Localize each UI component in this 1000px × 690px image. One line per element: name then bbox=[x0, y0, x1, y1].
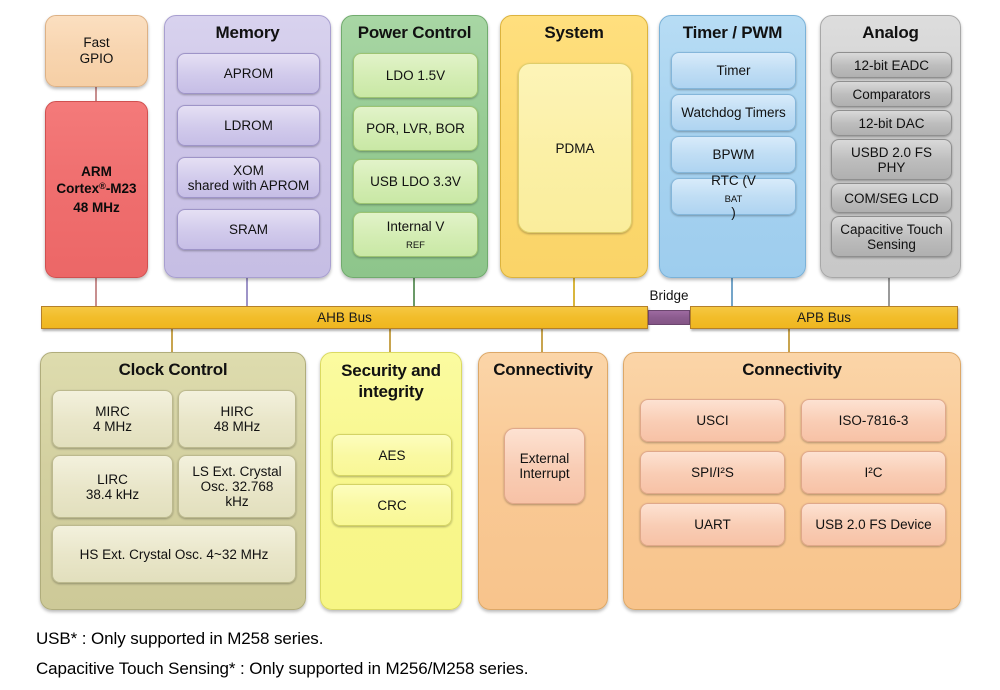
block-capacitive-touch-sensing[interactable]: Capacitive Touch Sensing bbox=[831, 216, 952, 257]
block-watchdog-timers-label: Watchdog Timers bbox=[678, 105, 789, 120]
footnote-capacitive-touch: Capacitive Touch Sensing* : Only support… bbox=[36, 659, 528, 679]
block-ls-ext-line1: LS Ext. Crystal bbox=[189, 464, 284, 479]
footnote-usb: USB* : Only supported in M258 series. bbox=[36, 629, 323, 649]
arm-line3: 48 MHz bbox=[56, 199, 136, 216]
block-xom-label: XOM shared with APROM bbox=[182, 163, 316, 193]
block-i2c-label: I²C bbox=[862, 465, 886, 480]
arm-m23-text: -M23 bbox=[106, 181, 137, 196]
block-por-lvr-bor-label: POR, LVR, BOR bbox=[363, 121, 468, 136]
block-uart[interactable]: UART bbox=[640, 503, 785, 546]
block-ls-ext-line3: kHz bbox=[189, 494, 284, 509]
block-cap-touch-line2: Sensing bbox=[837, 237, 946, 252]
block-eadc[interactable]: 12-bit EADC bbox=[831, 52, 952, 78]
block-hirc-line1: HIRC bbox=[211, 404, 264, 419]
block-spi-i2s[interactable]: SPI/I²S bbox=[640, 451, 785, 494]
panel-memory: Memory APROM LDROM XOM shared with APROM… bbox=[164, 15, 331, 278]
block-internal-vref-label: Internal VREF bbox=[381, 219, 451, 251]
bridge-connector bbox=[648, 310, 690, 325]
block-lirc-line2: 38.4 kHz bbox=[83, 487, 142, 502]
registered-mark-icon: ® bbox=[99, 181, 106, 191]
apb-bus-label: APB Bus bbox=[797, 310, 851, 325]
block-dac[interactable]: 12-bit DAC bbox=[831, 110, 952, 136]
panel-connectivity-left: Connectivity External Interrupt bbox=[478, 352, 608, 610]
block-aprom[interactable]: APROM bbox=[177, 53, 320, 94]
block-bpwm[interactable]: BPWM bbox=[671, 136, 796, 173]
rtc-text: RTC (V bbox=[708, 173, 759, 188]
fast-gpio-line2: GPIO bbox=[80, 51, 114, 67]
block-hirc[interactable]: HIRC 48 MHz bbox=[178, 390, 296, 448]
block-com-seg-lcd-label: COM/SEG LCD bbox=[841, 191, 942, 206]
block-spi-i2s-label: SPI/I²S bbox=[688, 465, 737, 480]
rtc-close-paren: ) bbox=[708, 205, 759, 220]
block-external-interrupt[interactable]: External Interrupt bbox=[504, 428, 585, 504]
block-lirc-line1: LIRC bbox=[83, 472, 142, 487]
panel-system-title: System bbox=[501, 23, 647, 42]
vbat-subscript: BAT bbox=[725, 194, 743, 205]
block-crc[interactable]: CRC bbox=[332, 484, 452, 526]
panel-analog: Analog 12-bit EADC Comparators 12-bit DA… bbox=[820, 15, 961, 278]
panel-security-integrity: Security and integrity AES CRC bbox=[320, 352, 462, 610]
connector-ahb-to-clock bbox=[171, 327, 173, 352]
panel-connectivity-right-title: Connectivity bbox=[624, 360, 960, 379]
connector-gpio-to-cpu bbox=[95, 86, 97, 102]
block-xom-line2: shared with APROM bbox=[185, 178, 313, 193]
block-fast-gpio[interactable]: Fast GPIO bbox=[45, 15, 148, 87]
connector-timer-to-apb bbox=[731, 276, 733, 308]
ahb-bus[interactable]: AHB Bus bbox=[41, 306, 648, 329]
block-crc-label: CRC bbox=[374, 498, 409, 513]
block-eadc-label: 12-bit EADC bbox=[851, 58, 932, 73]
internal-v-text: Internal V bbox=[384, 219, 448, 234]
block-iso-7816-3-label: ISO-7816-3 bbox=[836, 413, 912, 428]
block-usci-label: USCI bbox=[693, 413, 731, 428]
block-mirc-line2: 4 MHz bbox=[90, 419, 135, 434]
block-watchdog-timers[interactable]: Watchdog Timers bbox=[671, 94, 796, 131]
connector-memory-to-ahb bbox=[246, 276, 248, 308]
block-pdma-label: PDMA bbox=[552, 141, 597, 156]
panel-connectivity-right: Connectivity USCI ISO-7816-3 SPI/I²S I²C… bbox=[623, 352, 961, 610]
block-ldrom-label: LDROM bbox=[221, 118, 276, 133]
block-usci[interactable]: USCI bbox=[640, 399, 785, 442]
block-ext-int-line2: Interrupt bbox=[516, 466, 572, 481]
block-dac-label: 12-bit DAC bbox=[855, 116, 927, 131]
panel-power-control-title: Power Control bbox=[342, 23, 487, 42]
block-usb-ldo-3v3-label: USB LDO 3.3V bbox=[367, 174, 464, 189]
block-iso-7816-3[interactable]: ISO-7816-3 bbox=[801, 399, 946, 442]
connector-ahb-to-connectivity-left bbox=[541, 327, 543, 352]
block-ls-ext-line2: Osc. 32.768 bbox=[189, 479, 284, 494]
block-lirc-label: LIRC 38.4 kHz bbox=[80, 472, 145, 502]
fast-gpio-line1: Fast bbox=[80, 35, 114, 51]
vref-subscript: REF bbox=[406, 240, 425, 251]
block-mirc[interactable]: MIRC 4 MHz bbox=[52, 390, 173, 448]
block-bpwm-label: BPWM bbox=[710, 147, 758, 162]
panel-clock-control-title: Clock Control bbox=[41, 360, 305, 379]
block-ldo-1v5[interactable]: LDO 1.5V bbox=[353, 53, 478, 98]
block-hs-ext-crystal[interactable]: HS Ext. Crystal Osc. 4~32 MHz bbox=[52, 525, 296, 583]
connector-apb-to-connectivity-right bbox=[788, 327, 790, 352]
arm-cortex-label: ARM Cortex®-M23 48 MHz bbox=[56, 163, 136, 216]
block-mirc-label: MIRC 4 MHz bbox=[87, 404, 138, 434]
block-i2c[interactable]: I²C bbox=[801, 451, 946, 494]
connector-analog-to-apb bbox=[888, 276, 890, 308]
block-internal-vref[interactable]: Internal VREF bbox=[353, 212, 478, 257]
connector-power-to-ahb bbox=[413, 276, 415, 308]
block-ls-ext-crystal[interactable]: LS Ext. Crystal Osc. 32.768 kHz bbox=[178, 455, 296, 518]
block-mirc-line1: MIRC bbox=[90, 404, 135, 419]
block-hirc-line2: 48 MHz bbox=[211, 419, 264, 434]
panel-timer-pwm: Timer / PWM Timer Watchdog Timers BPWM R… bbox=[659, 15, 806, 278]
block-rtc-vbat-label: RTC (VBAT) bbox=[705, 173, 762, 220]
block-arm-cortex-m23[interactable]: ARM Cortex®-M23 48 MHz bbox=[45, 101, 148, 278]
block-ext-int-line1: External bbox=[516, 451, 572, 466]
block-usb-ldo-3v3[interactable]: USB LDO 3.3V bbox=[353, 159, 478, 204]
block-ldo-1v5-label: LDO 1.5V bbox=[383, 68, 448, 83]
block-comparators[interactable]: Comparators bbox=[831, 81, 952, 107]
block-usbd-phy[interactable]: USBD 2.0 FS PHY bbox=[831, 139, 952, 180]
block-ldrom[interactable]: LDROM bbox=[177, 105, 320, 146]
block-aes-label: AES bbox=[375, 448, 408, 463]
block-usb-2-fs-device[interactable]: USB 2.0 FS Device bbox=[801, 503, 946, 546]
block-diagram-canvas: Fast GPIO ARM Cortex®-M23 48 MHz Memory … bbox=[0, 0, 1000, 690]
connector-cpu-to-ahb bbox=[95, 276, 97, 308]
block-lirc[interactable]: LIRC 38.4 kHz bbox=[52, 455, 173, 518]
block-uart-label: UART bbox=[691, 517, 734, 532]
block-usb-2-fs-device-label: USB 2.0 FS Device bbox=[812, 517, 934, 532]
block-aprom-label: APROM bbox=[221, 66, 277, 81]
panel-memory-title: Memory bbox=[165, 23, 330, 42]
block-ls-ext-crystal-label: LS Ext. Crystal Osc. 32.768 kHz bbox=[186, 464, 287, 509]
arm-line2: Cortex®-M23 bbox=[56, 180, 136, 199]
block-usbd-phy-line1: USBD 2.0 FS bbox=[848, 145, 935, 160]
connector-ahb-to-security bbox=[389, 327, 391, 352]
block-hirc-label: HIRC 48 MHz bbox=[208, 404, 267, 434]
panel-system: System PDMA bbox=[500, 15, 648, 278]
block-usbd-phy-label: USBD 2.0 FS PHY bbox=[845, 145, 938, 175]
block-xom[interactable]: XOM shared with APROM bbox=[177, 157, 320, 198]
panel-timer-pwm-title: Timer / PWM bbox=[660, 23, 805, 42]
panel-clock-control: Clock Control MIRC 4 MHz HIRC 48 MHz LIR… bbox=[40, 352, 306, 610]
block-usbd-phy-line2: PHY bbox=[848, 160, 935, 175]
block-por-lvr-bor[interactable]: POR, LVR, BOR bbox=[353, 106, 478, 151]
block-external-interrupt-label: External Interrupt bbox=[513, 451, 575, 481]
block-timer[interactable]: Timer bbox=[671, 52, 796, 89]
security-title-line1: Security and bbox=[321, 360, 461, 381]
security-title-line2: integrity bbox=[321, 381, 461, 402]
panel-security-integrity-title: Security and integrity bbox=[321, 360, 461, 402]
panel-analog-title: Analog bbox=[821, 23, 960, 42]
ahb-bus-label: AHB Bus bbox=[317, 310, 372, 325]
block-timer-label: Timer bbox=[714, 63, 754, 78]
block-hs-ext-crystal-label: HS Ext. Crystal Osc. 4~32 MHz bbox=[77, 547, 272, 562]
block-sram[interactable]: SRAM bbox=[177, 209, 320, 250]
arm-cortex-text: Cortex bbox=[56, 181, 99, 196]
block-aes[interactable]: AES bbox=[332, 434, 452, 476]
connector-system-to-ahb bbox=[573, 276, 575, 308]
block-rtc-vbat[interactable]: RTC (VBAT) bbox=[671, 178, 796, 215]
bridge-label: Bridge bbox=[634, 288, 704, 303]
panel-connectivity-left-title: Connectivity bbox=[479, 360, 607, 379]
block-pdma[interactable]: PDMA bbox=[518, 63, 632, 233]
block-com-seg-lcd[interactable]: COM/SEG LCD bbox=[831, 183, 952, 213]
block-cap-touch-line1: Capacitive Touch bbox=[837, 222, 946, 237]
apb-bus[interactable]: APB Bus bbox=[690, 306, 958, 329]
block-comparators-label: Comparators bbox=[849, 87, 933, 102]
fast-gpio-label: Fast GPIO bbox=[80, 35, 114, 67]
arm-line1: ARM bbox=[56, 163, 136, 180]
block-xom-line1: XOM bbox=[185, 163, 313, 178]
block-sram-label: SRAM bbox=[226, 222, 271, 237]
block-capacitive-touch-sensing-label: Capacitive Touch Sensing bbox=[834, 222, 949, 252]
panel-power-control: Power Control LDO 1.5V POR, LVR, BOR USB… bbox=[341, 15, 488, 278]
